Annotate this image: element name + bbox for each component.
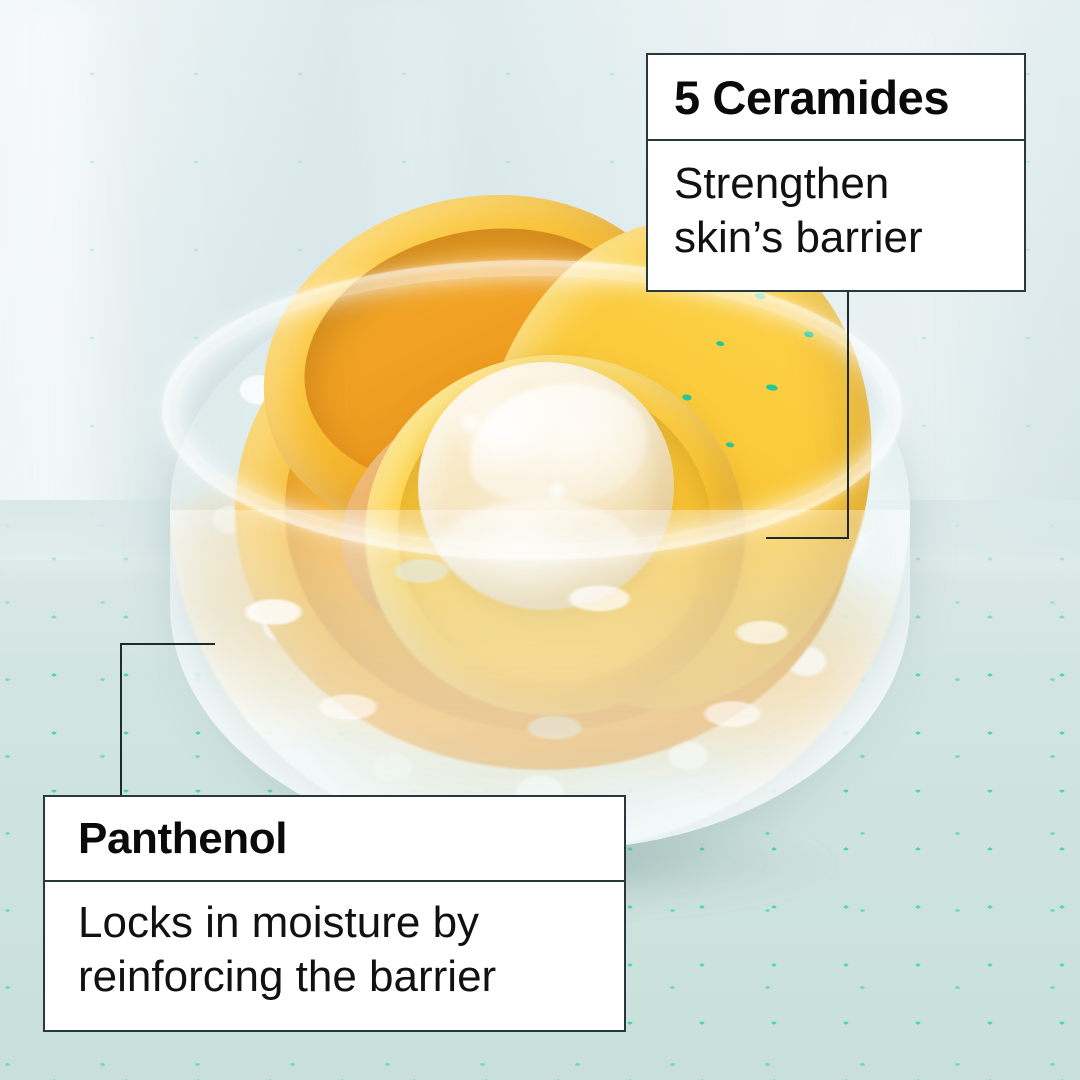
product-callout-scene: 5 Ceramides Strengthen skin’s barrier Pa…: [0, 0, 1080, 1080]
leader-line-panthenol-horizontal: [120, 643, 215, 645]
callout-body-ceramides: Strengthen skin’s barrier: [648, 141, 1024, 265]
leader-line-ceramides-vertical: [847, 290, 849, 539]
leader-line-ceramides-horizontal: [766, 537, 849, 539]
callout-card-panthenol[interactable]: Panthenol Locks in moisture by reinforci…: [43, 795, 626, 1032]
callout-body-panthenol: Locks in moisture by reinforcing the bar…: [45, 882, 624, 1004]
callout-title-panthenol: Panthenol: [45, 797, 624, 882]
callout-title-ceramides: 5 Ceramides: [648, 55, 1024, 141]
glass-bowl-rim: [162, 260, 902, 560]
callout-card-ceramides[interactable]: 5 Ceramides Strengthen skin’s barrier: [646, 53, 1026, 292]
leader-line-panthenol-vertical: [120, 643, 122, 797]
